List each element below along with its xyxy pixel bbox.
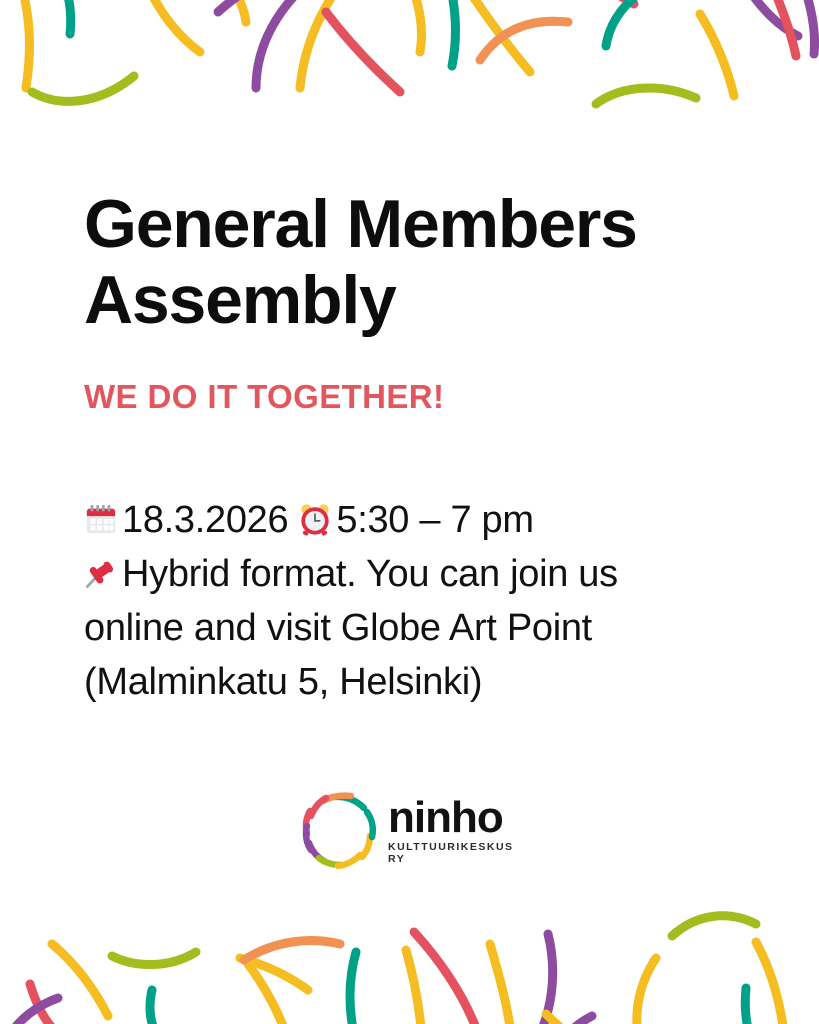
- event-time: 5:30 – 7 pm: [336, 499, 533, 541]
- logo-wordmark: ninho KULTTUURIKESKUS RY: [388, 793, 526, 866]
- logo-name: ninho: [388, 797, 526, 839]
- detail-line-datetime: 18.3.2026 5:30 – 7 pm: [84, 494, 744, 548]
- ninho-logo: ninho KULTTUURIKESKUS RY: [296, 786, 526, 872]
- detail-line-address: (Malminkatu 5, Helsinki): [84, 656, 744, 710]
- calendar-icon: [84, 502, 118, 536]
- confetti-decoration-bottom: [0, 906, 819, 1024]
- detail-line-format: Hybrid format. You can join us: [84, 548, 744, 602]
- poster-canvas: General Members Assembly WE DO IT TOGETH…: [0, 0, 819, 1024]
- page-title: General Members Assembly: [84, 186, 744, 338]
- poster-content: General Members Assembly WE DO IT TOGETH…: [84, 186, 744, 710]
- logo-tagline: KULTTUURIKESKUS RY: [388, 841, 526, 865]
- alarm-clock-icon: [298, 502, 332, 536]
- event-details: 18.3.2026 5:30 – 7 pm: [84, 494, 744, 710]
- poster-subtitle: WE DO IT TOGETHER!: [84, 378, 744, 416]
- format-text: Hybrid format. You can join us: [122, 553, 618, 595]
- event-date: 18.3.2026: [122, 499, 288, 541]
- confetti-decoration-top: [0, 0, 819, 118]
- detail-line-venue: online and visit Globe Art Point: [84, 602, 744, 656]
- pushpin-icon: [84, 556, 118, 590]
- circle-of-arcs-icon: [296, 786, 382, 872]
